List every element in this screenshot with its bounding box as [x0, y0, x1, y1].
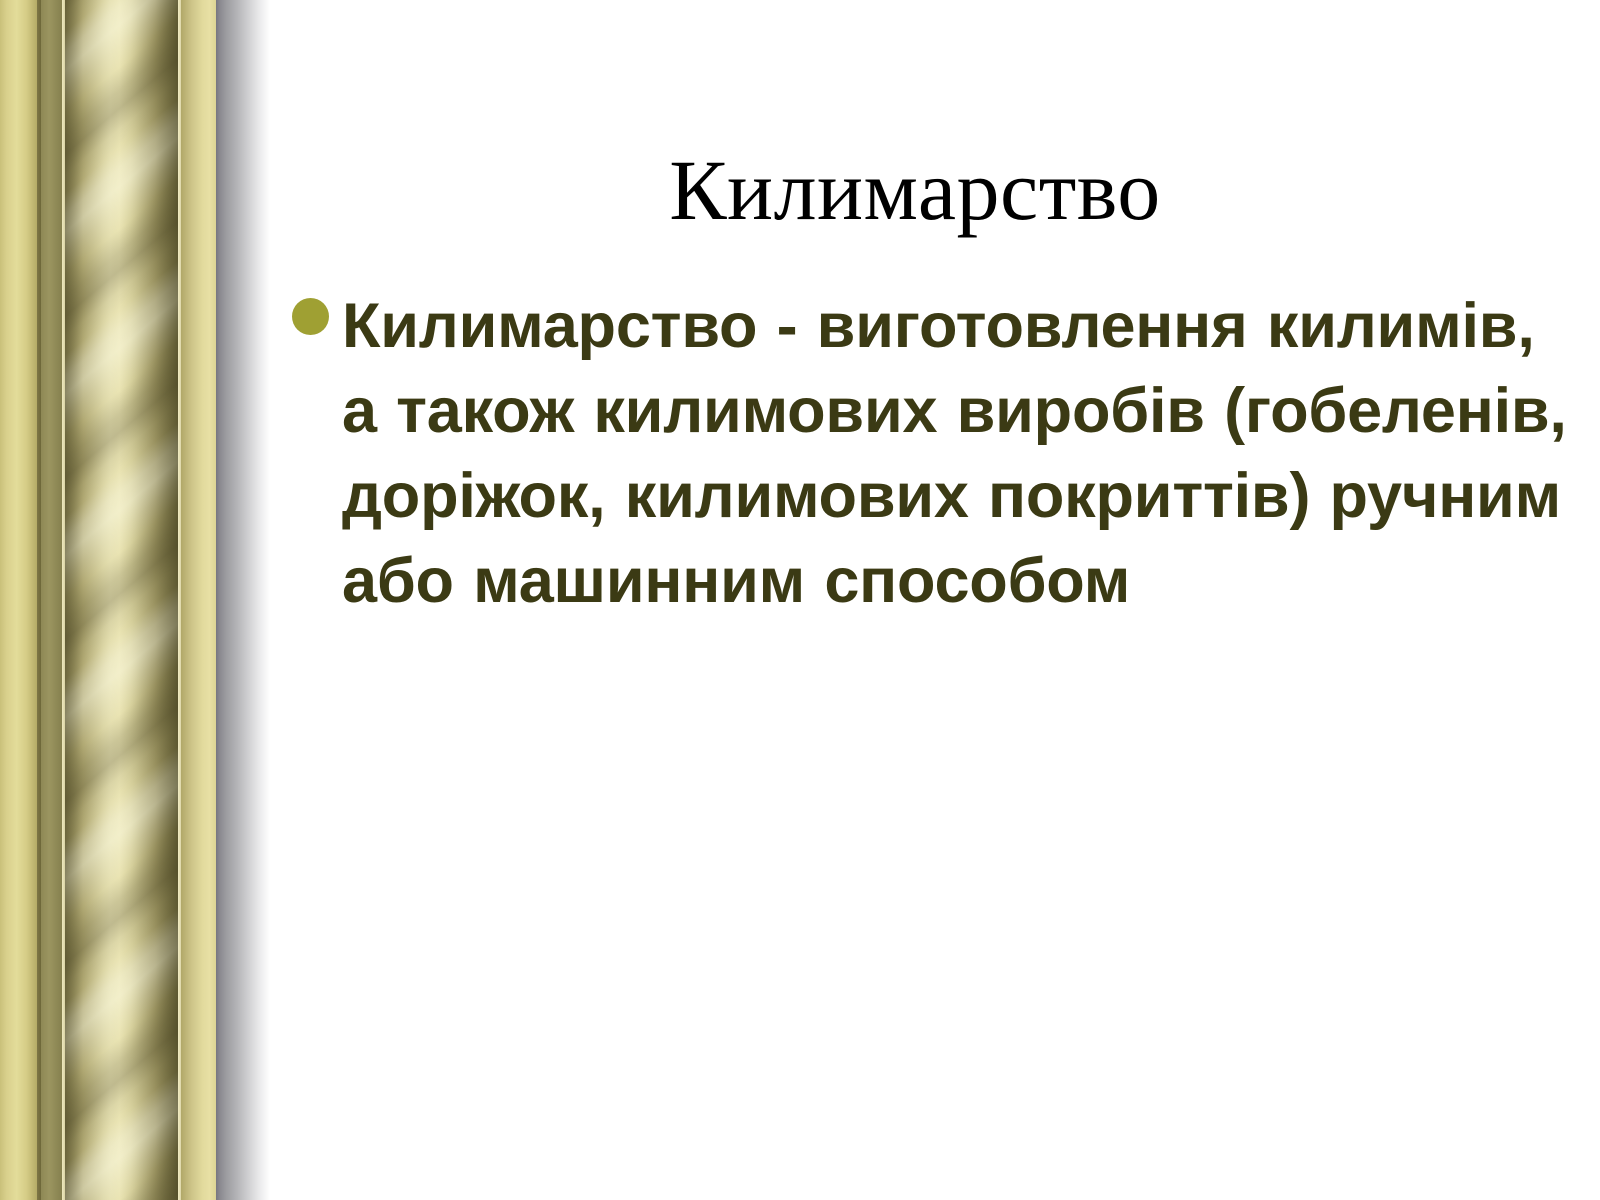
gold-rope-column-border: [0, 0, 270, 1200]
slide-body-list: Килимарство - виготовлення килимів, а та…: [280, 284, 1580, 624]
border-band-twisted-rope: [65, 0, 178, 1200]
border-band-olive: [41, 0, 62, 1200]
border-band-inner-gold: [181, 0, 216, 1200]
presentation-slide: Килимарство Килимарство - виготовлення к…: [0, 0, 1600, 1200]
list-item-text: Килимарство - виготовлення килимів, а та…: [342, 284, 1580, 624]
rope-shading-overlay: [65, 0, 178, 1200]
list-item: Килимарство - виготовлення килимів, а та…: [280, 284, 1580, 624]
border-drop-shadow: [216, 0, 270, 1200]
slide-content-area: Килимарство Килимарство - виготовлення к…: [270, 0, 1600, 1200]
bullet-dot-icon: [292, 298, 329, 335]
border-band-outer-gold: [0, 0, 37, 1200]
slide-title: Килимарство: [270, 142, 1560, 238]
